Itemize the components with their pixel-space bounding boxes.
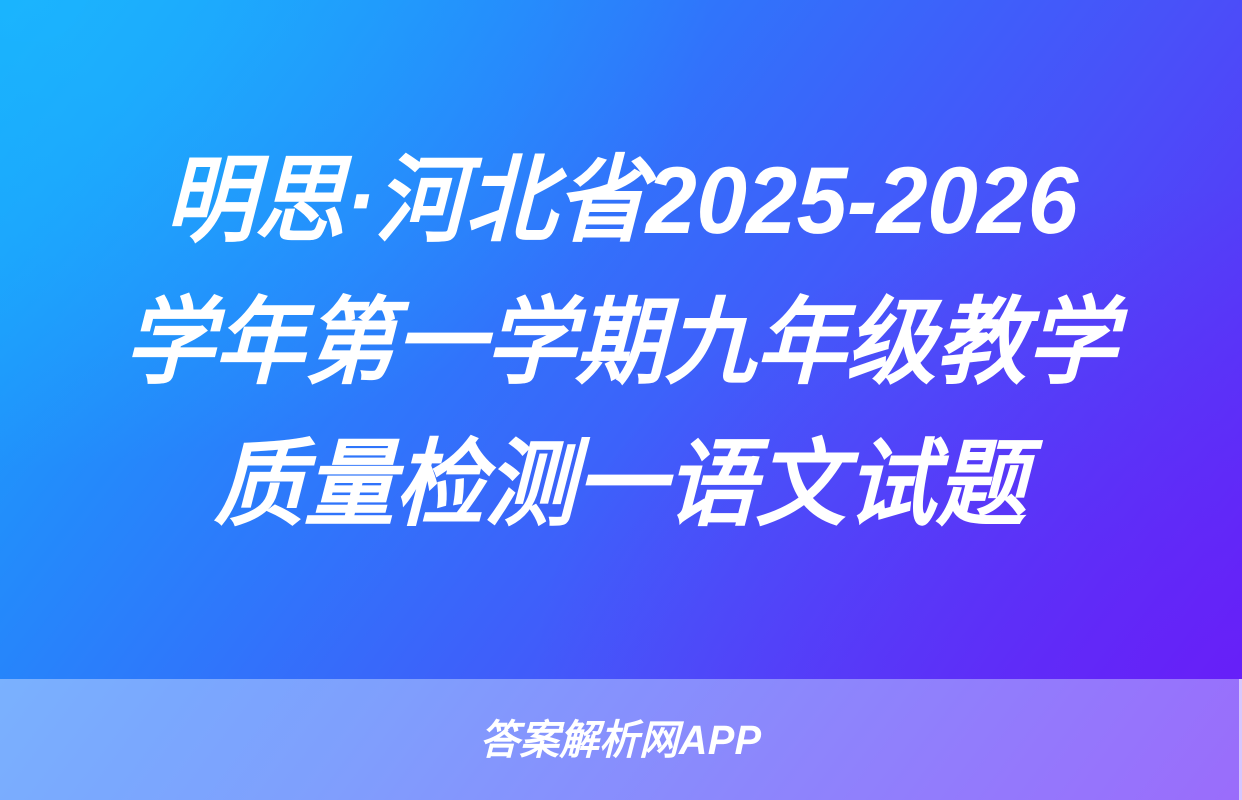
page-title: 明思·河北省2025-2026 学年第一学期九年级教学 质量检测一语文试题: [0, 0, 1242, 679]
exam-title-poster: 明思·河北省2025-2026 学年第一学期九年级教学 质量检测一语文试题 答案…: [0, 0, 1242, 800]
footer-watermark-band: 答案解析网APP: [0, 679, 1242, 800]
title-line-1: 明思·河北省2025-2026: [163, 130, 1078, 272]
title-line-3: 质量检测一语文试题: [214, 414, 1029, 556]
title-line-2: 学年第一学期九年级教学: [123, 272, 1118, 414]
footer-watermark-text: 答案解析网APP: [480, 716, 762, 764]
